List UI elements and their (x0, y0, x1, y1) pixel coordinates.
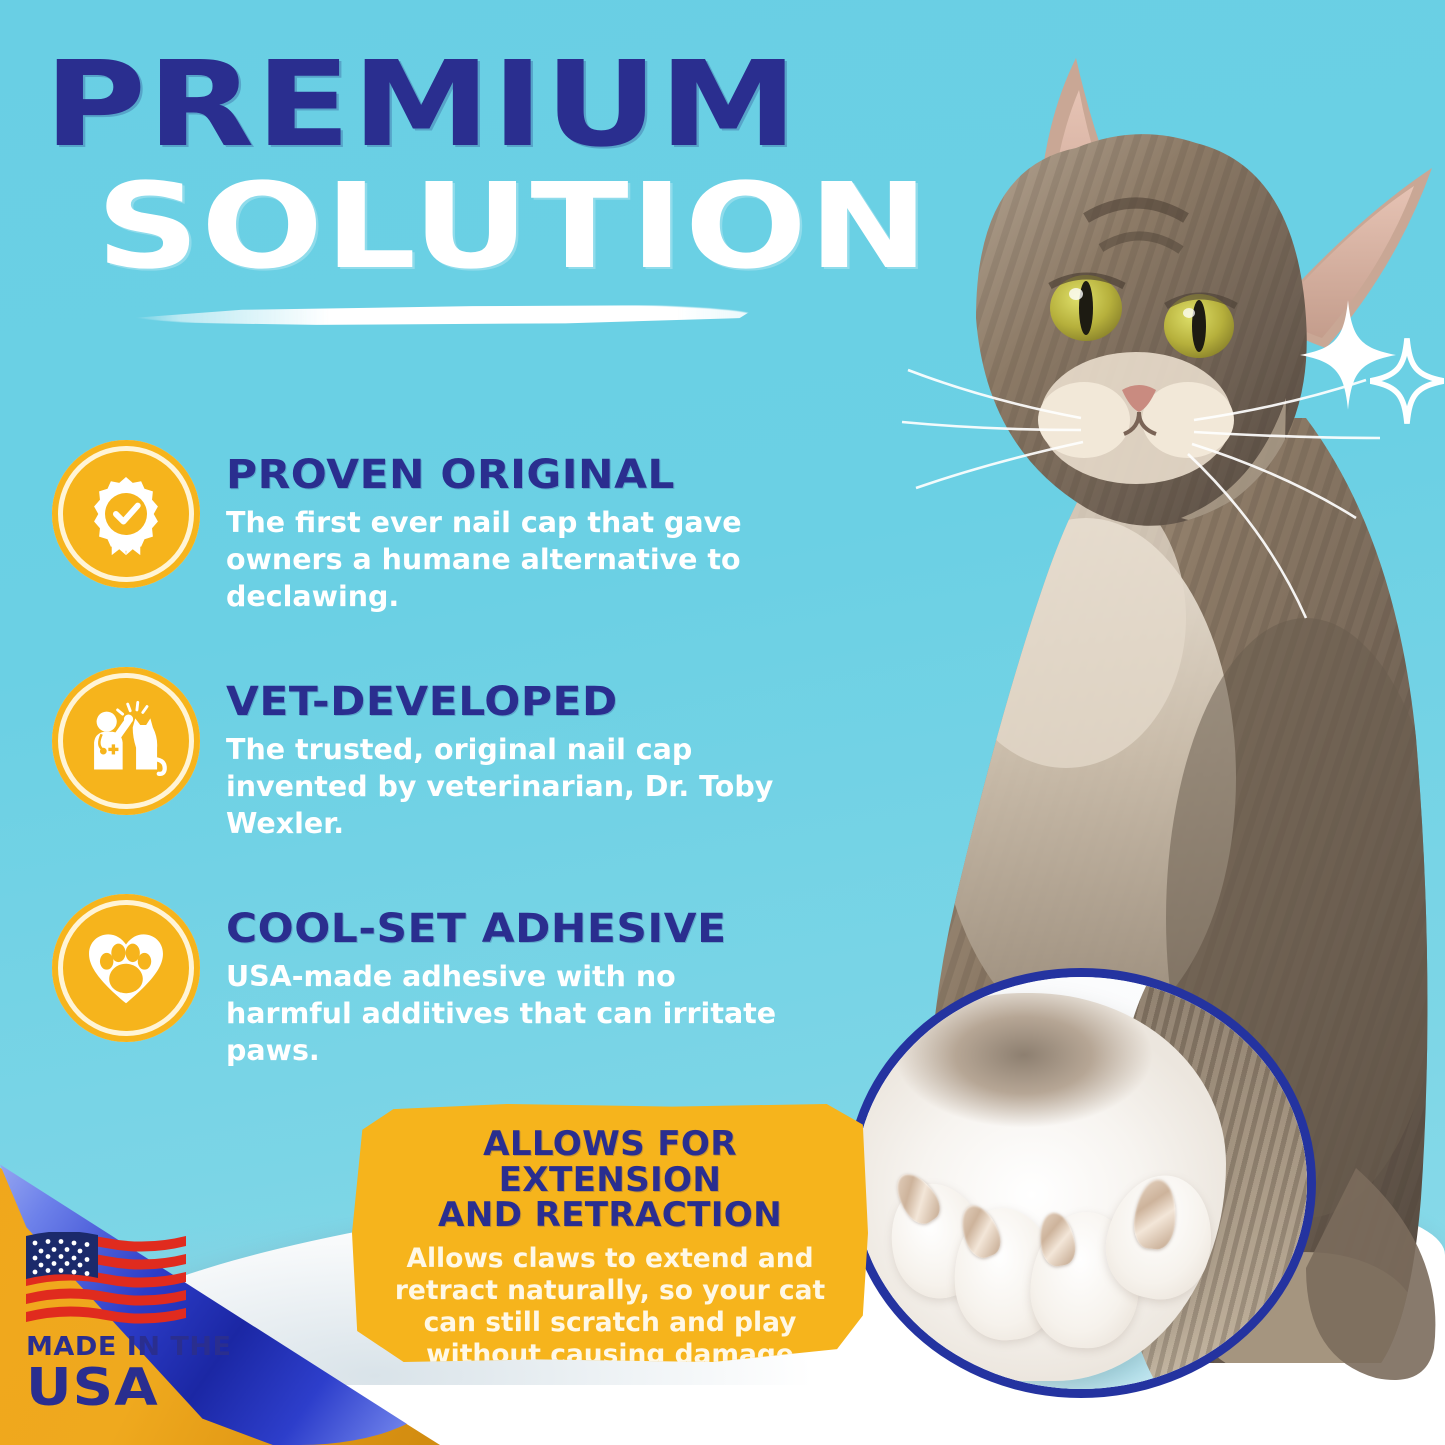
product-infographic: PREMIUM SOLUTION PROVEN ORIGINAL The fir… (0, 0, 1445, 1445)
callout-title-line-1: ALLOWS FOR EXTENSION (483, 1124, 737, 1199)
feature-title: VET-DEVELOPED (226, 679, 890, 725)
feature-item-vet-developed: VET-DEVELOPED The trusted, original nail… (52, 667, 852, 842)
callout-title-line-2: AND RETRACTION (438, 1195, 782, 1234)
feature-list: PROVEN ORIGINAL The first ever nail cap … (52, 440, 852, 1069)
feature-text: PROVEN ORIGINAL The first ever nail cap … (226, 440, 852, 615)
award-ribbon-icon (52, 440, 200, 588)
feature-item-proven-original: PROVEN ORIGINAL The first ever nail cap … (52, 440, 852, 615)
headline-block: PREMIUM SOLUTION (44, 48, 874, 282)
heart-paw-icon (52, 894, 200, 1042)
us-flag-icon (26, 1232, 186, 1324)
feature-text: VET-DEVELOPED The trusted, original nail… (226, 667, 852, 842)
feature-body: The first ever nail cap that gave owners… (226, 504, 796, 615)
feature-body: USA-made adhesive with no harmful additi… (226, 958, 801, 1069)
made-in-usa-badge: MADE IN THE USA (26, 1232, 236, 1415)
feature-body: The trusted, original nail cap invented … (226, 731, 826, 842)
cat-paw-with-nail-caps-closeup (846, 968, 1316, 1398)
feature-text: COOL-SET ADHESIVE USA-made adhesive with… (226, 894, 852, 1069)
headline-line-premium: PREMIUM (44, 48, 1023, 160)
feature-item-cool-set-adhesive: COOL-SET ADHESIVE USA-made adhesive with… (52, 894, 852, 1069)
callout-title: ALLOWS FOR EXTENSION AND RETRACTION (371, 1126, 848, 1233)
sparkle-star-outline-icon (1370, 338, 1444, 424)
feature-title: COOL-SET ADHESIVE (226, 906, 890, 952)
made-in-usa-line-2: USA (26, 1362, 253, 1415)
feature-title: PROVEN ORIGINAL (226, 452, 890, 498)
extension-retraction-callout: ALLOWS FOR EXTENSION AND RETRACTION Allo… (352, 1104, 868, 1362)
headline-line-solution: SOLUTION (96, 170, 1045, 282)
callout-body: Allows claws to extend and retract natur… (376, 1243, 844, 1372)
vet-high-five-cat-icon (52, 667, 200, 815)
